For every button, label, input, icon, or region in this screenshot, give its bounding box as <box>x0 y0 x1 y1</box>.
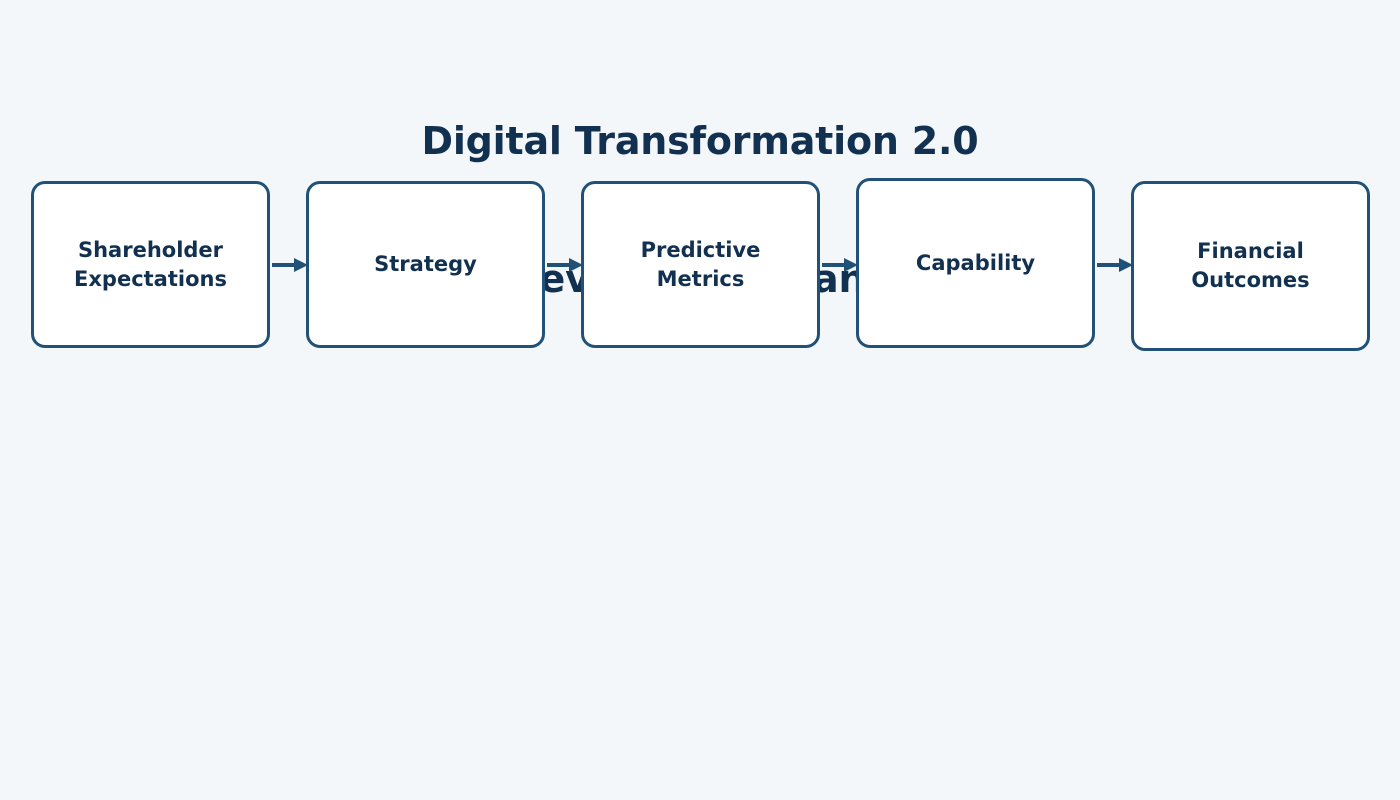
diagram-canvas: Digital Transformation 2.0 Board-Level P… <box>0 0 1400 800</box>
arrow-right-icon-shareholder-to-strategy <box>272 258 308 272</box>
flow-node-label: Capability <box>908 249 1043 278</box>
flow-chain: Shareholder Expectations Strategy Predic… <box>0 178 1400 353</box>
arrow-right-icon-predictive-metrics-to-capability <box>822 258 858 272</box>
flow-node-label: Predictive Metrics <box>633 236 769 294</box>
arrow-right-icon-strategy-to-predictive-metrics <box>547 258 583 272</box>
flow-node-shareholder-expectations[interactable]: Shareholder Expectations <box>31 181 270 348</box>
flow-node-label: Strategy <box>366 250 485 279</box>
arrow-right-icon-capability-to-financial-outcomes <box>1097 258 1133 272</box>
flow-node-label: Shareholder Expectations <box>66 236 235 294</box>
flow-node-predictive-metrics[interactable]: Predictive Metrics <box>581 181 820 348</box>
flow-node-strategy[interactable]: Strategy <box>306 181 545 348</box>
flow-node-label: Financial Outcomes <box>1183 237 1317 295</box>
diagram-title-line-1: Digital Transformation 2.0 <box>0 118 1400 164</box>
flow-node-financial-outcomes[interactable]: Financial Outcomes <box>1131 181 1370 351</box>
flow-node-capability[interactable]: Capability <box>856 178 1095 348</box>
